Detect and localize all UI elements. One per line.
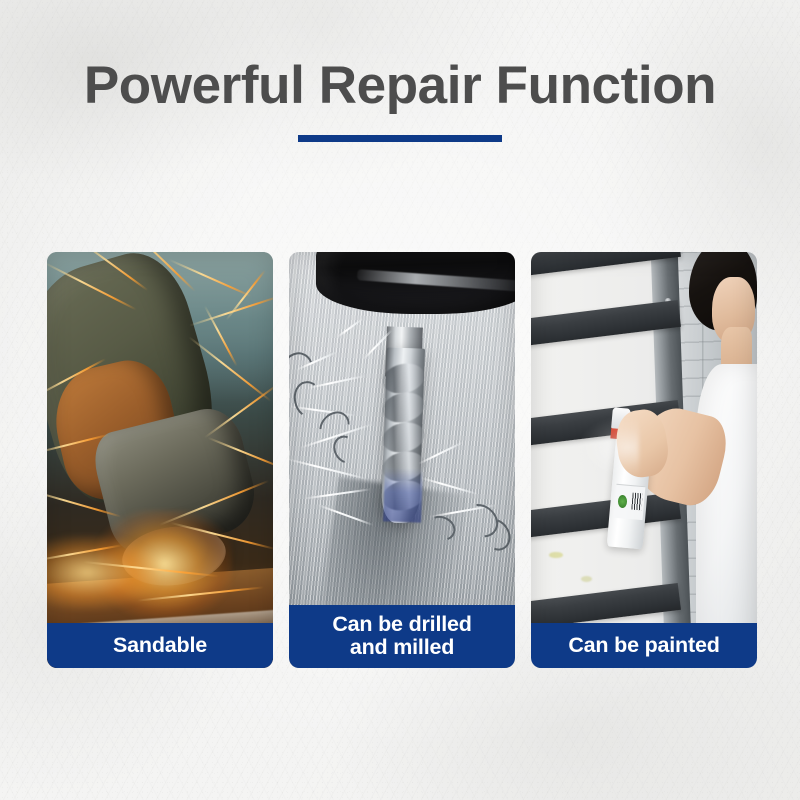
spray-painting-slats-photo [531, 252, 757, 668]
promo-graphic: Powerful Repair Function [0, 0, 800, 800]
feature-card-row: Sandable [47, 252, 753, 668]
card-label-line2: and milled [289, 636, 515, 659]
card-label-line1: Can be painted [531, 634, 757, 656]
feature-card-drilled-milled[interactable]: Can be drilled and milled [289, 252, 515, 668]
card-label-sandable: Sandable [47, 623, 273, 668]
spark-streaks [47, 252, 273, 668]
card-label-drilled-milled: Can be drilled and milled [289, 605, 515, 668]
header: Powerful Repair Function [0, 58, 800, 142]
angle-grinder-sparks-photo [47, 252, 273, 668]
card-label-line1: Can be drilled [289, 613, 515, 636]
feature-card-sandable[interactable]: Sandable [47, 252, 273, 668]
card-label-line1: Sandable [47, 634, 273, 656]
card-label-painted: Can be painted [531, 623, 757, 668]
title-underline-rule [298, 135, 502, 142]
page-title: Powerful Repair Function [0, 58, 800, 114]
feature-card-painted[interactable]: Can be painted [531, 252, 757, 668]
